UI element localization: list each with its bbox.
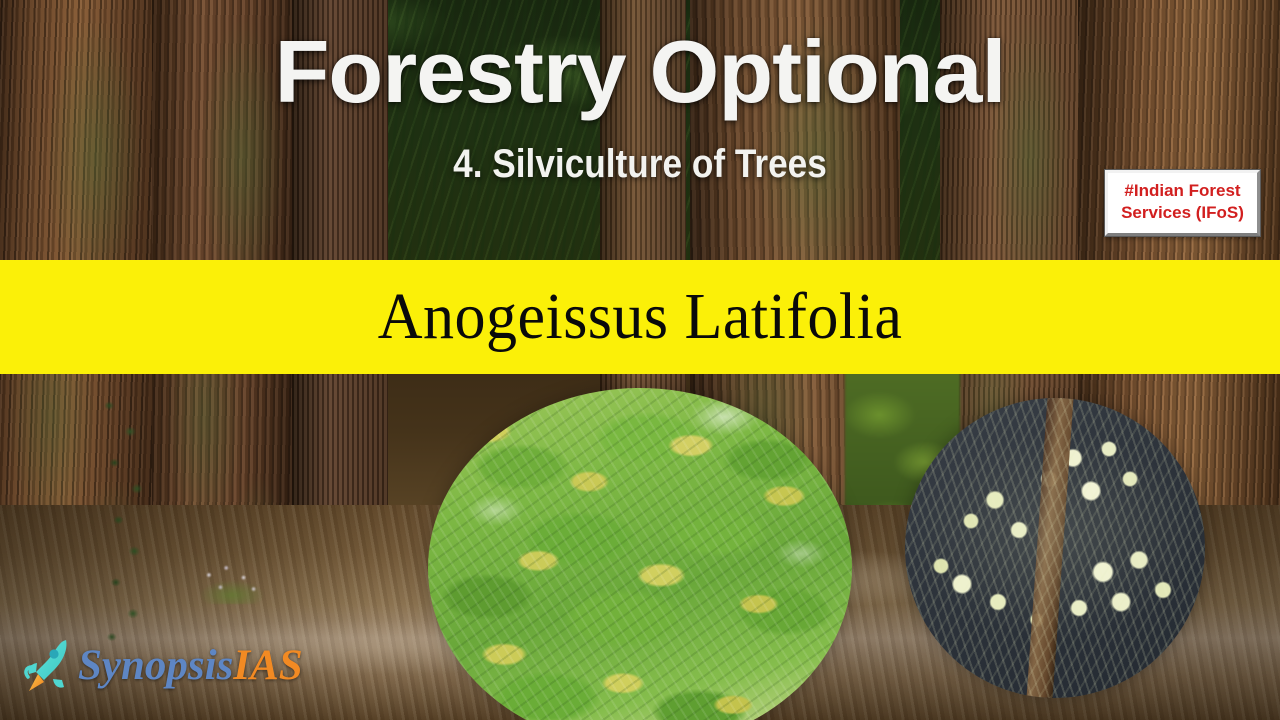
brand-logo-text: SynopsisIAS: [78, 644, 303, 687]
page-title: Forestry Optional: [0, 28, 1280, 116]
rocket-icon: [24, 636, 76, 694]
species-banner: Anogeissus Latifolia: [0, 260, 1280, 374]
foliage-photo-oval: [428, 388, 852, 720]
page-subtitle: 4. Silviculture of Trees: [77, 144, 1203, 184]
brand-name-primary: Synopsis: [78, 642, 233, 689]
ifos-badge-line-2: Services (IFoS): [1114, 202, 1251, 224]
ifos-badge-line-1: #Indian Forest: [1114, 180, 1251, 202]
flower-photo-image: [905, 398, 1205, 698]
foliage-photo-image: [428, 388, 852, 720]
ivy-creeper: [96, 390, 162, 650]
ifos-badge: #Indian Forest Services (IFoS): [1105, 170, 1260, 236]
slide-root: Forestry Optional 4. Silviculture of Tre…: [0, 0, 1280, 720]
ground-flower-clump: [196, 560, 268, 604]
header-block: Forestry Optional 4. Silviculture of Tre…: [0, 0, 1280, 260]
brand-name-secondary: IAS: [233, 642, 302, 689]
brand-logo[interactable]: SynopsisIAS: [24, 636, 303, 694]
species-name: Anogeissus Latifolia: [378, 284, 903, 350]
flower-photo-circle: [905, 398, 1205, 698]
